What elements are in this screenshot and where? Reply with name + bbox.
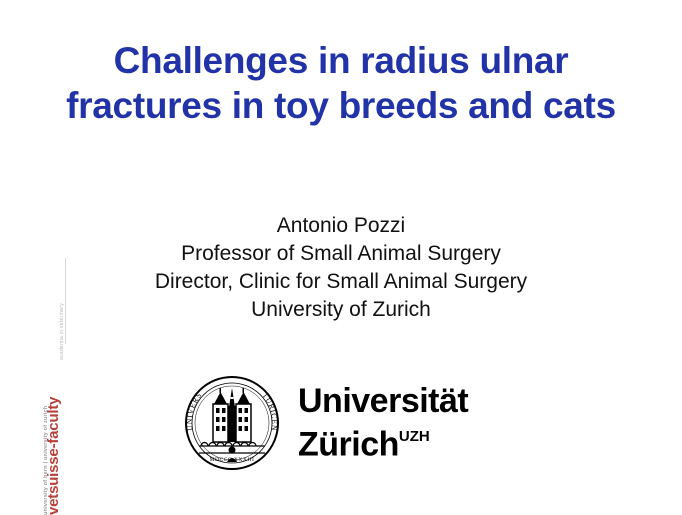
sidebar-faculty-label: vetsuisse-faculty (45, 397, 62, 515)
uzh-logo-lockup: UNIVERSITAS TURICENSIS (182, 371, 522, 475)
author-role: Professor of Small Animal Surgery (0, 240, 682, 268)
presentation-slide: Challenges in radius ulnar fractures in … (0, 0, 682, 515)
vetsuisse-sidebar: academia in veterinary university of ber… (18, 0, 70, 515)
title-line-1: Challenges in radius ulnar (0, 38, 682, 83)
author-position: Director, Clinic for Small Animal Surger… (0, 268, 682, 296)
author-institution: University of Zurich (0, 296, 682, 324)
wordmark-line-2: ZürichUZH (298, 420, 468, 463)
author-name: Antonio Pozzi (0, 212, 682, 240)
wordmark-line-1: Universität (298, 382, 468, 420)
slide-title: Challenges in radius ulnar fractures in … (0, 38, 682, 128)
sidebar-divider (65, 258, 66, 344)
sidebar-department-label: academia in veterinary (59, 303, 65, 360)
svg-text:MDCCC XXXIII: MDCCC XXXIII (210, 457, 255, 463)
title-line-2: fractures in toy breeds and cats (0, 83, 682, 128)
wordmark-uzh-superscript: UZH (399, 428, 430, 445)
uzh-seal-icon: UNIVERSITAS TURICENSIS (182, 373, 282, 473)
author-block: Antonio Pozzi Professor of Small Animal … (0, 212, 682, 324)
wordmark-zurich: Zürich (298, 426, 399, 464)
uzh-wordmark: Universität ZürichUZH (298, 382, 468, 463)
